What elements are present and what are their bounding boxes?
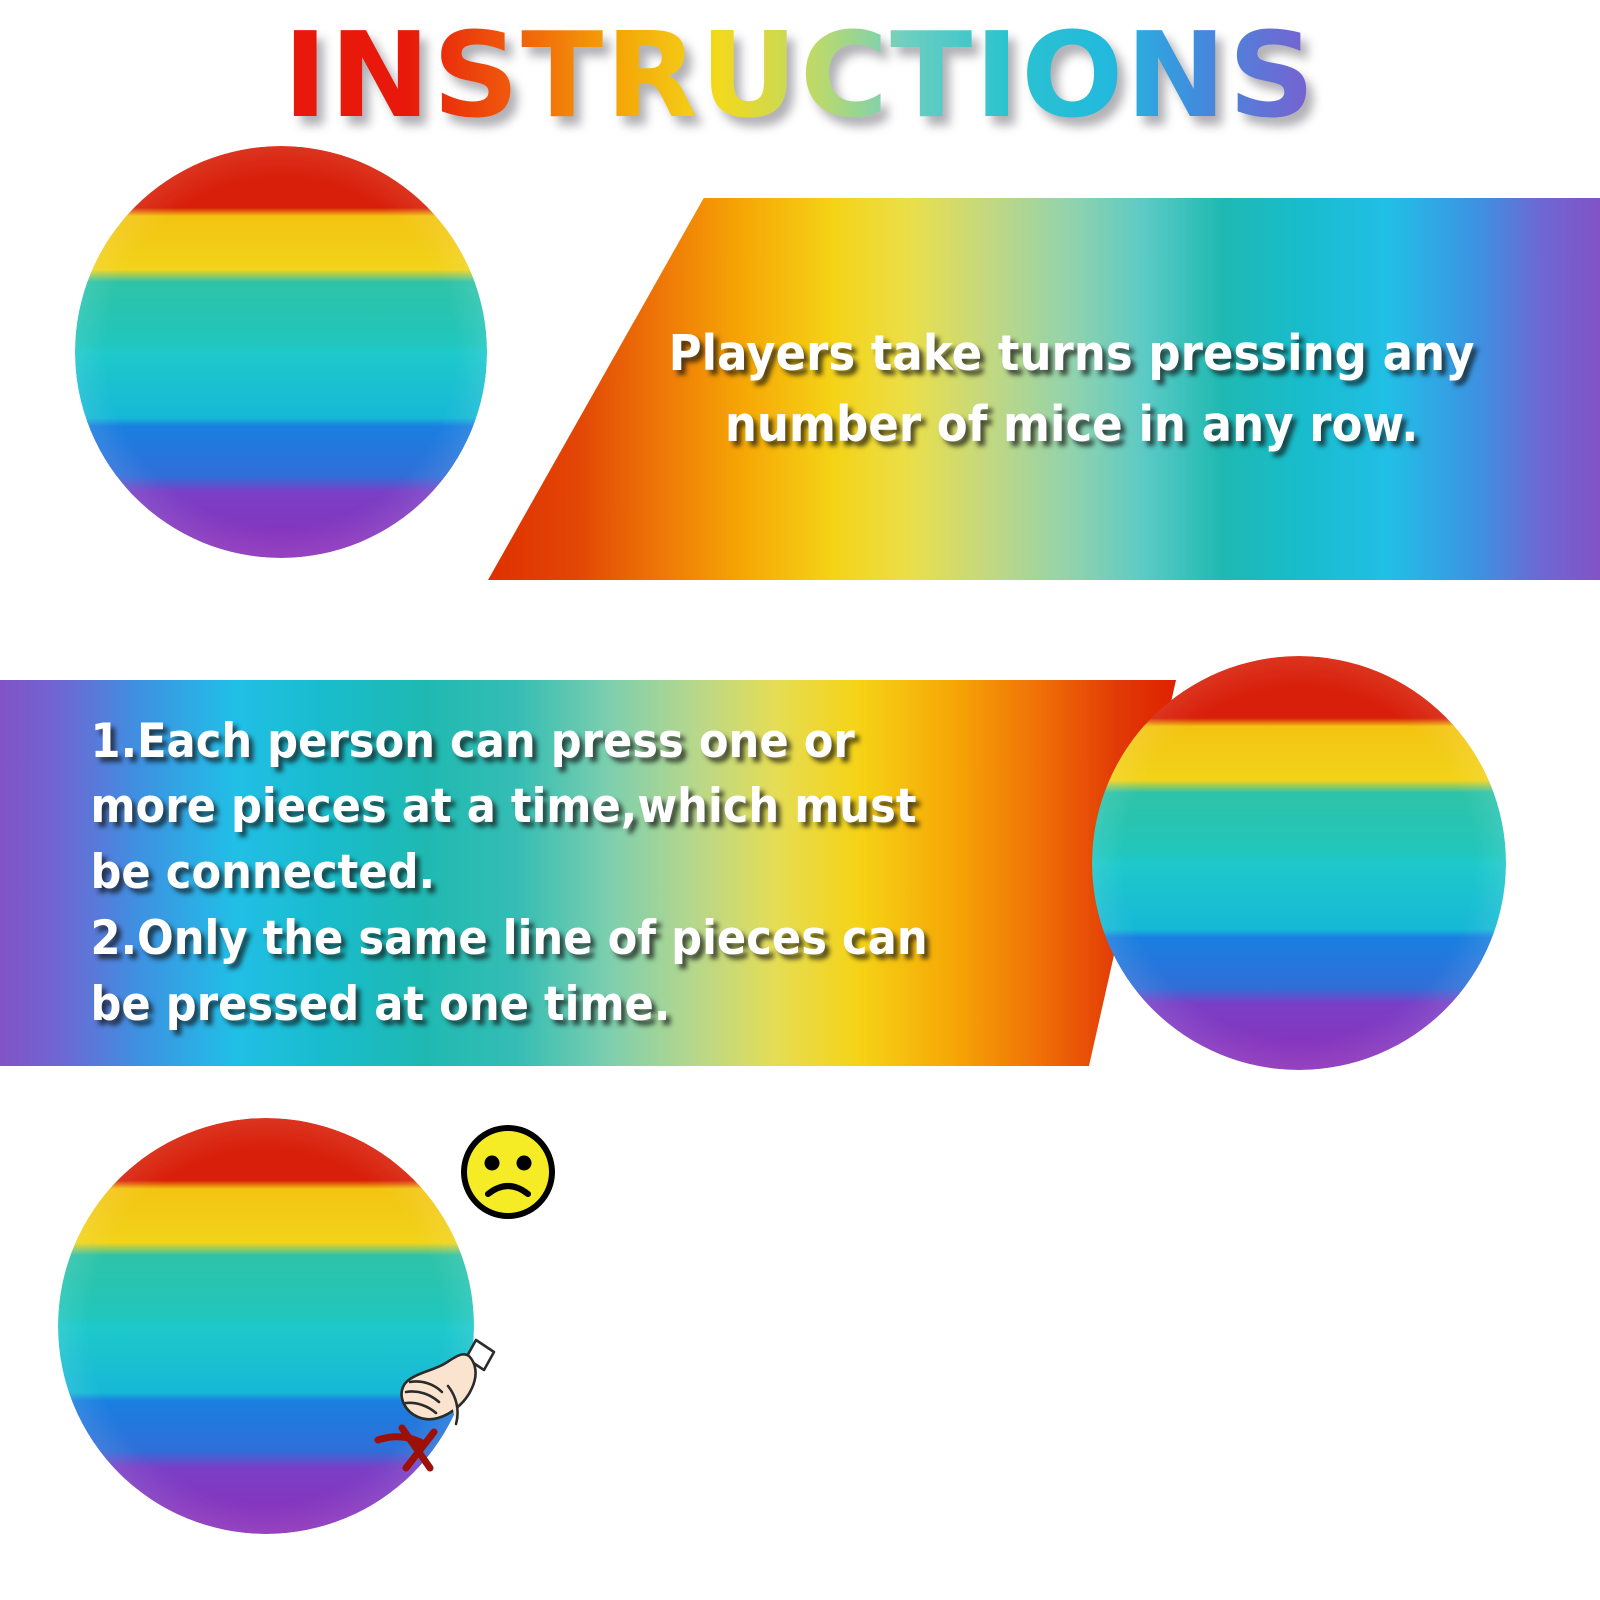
instruction-line: 1.Each person can press one or bbox=[90, 709, 927, 775]
instruction-line: 2.Only the same line of pieces can bbox=[90, 906, 927, 972]
sad-face-icon bbox=[458, 1122, 558, 1222]
pointing-hand-icon bbox=[390, 1330, 500, 1450]
instruction-text-1: Players take turns pressing anynumber of… bbox=[558, 318, 1530, 460]
instruction-text-2: 1.Each person can press one ormore piece… bbox=[46, 709, 1111, 1038]
popit-edge-highlight bbox=[1092, 656, 1506, 1070]
popit-board-2[interactable] bbox=[1092, 656, 1506, 1070]
page-title: INSTRUCTIONS bbox=[283, 16, 1317, 134]
instruction-line: more pieces at a time,which must bbox=[90, 774, 927, 840]
popit-edge-highlight bbox=[75, 146, 487, 558]
instruction-line: number of mice in any row. bbox=[669, 389, 1475, 460]
popit-board-1[interactable] bbox=[75, 146, 487, 558]
selected-row-highlight bbox=[1092, 656, 1104, 668]
instruction-line: Players take turns pressing any bbox=[669, 318, 1475, 389]
instruction-banner-1: Players take turns pressing anynumber of… bbox=[488, 198, 1600, 580]
page-header: INSTRUCTIONS bbox=[0, 0, 1600, 150]
instruction-banner-2: 1.Each person can press one ormore piece… bbox=[0, 680, 1176, 1066]
instruction-line: be pressed at one time. bbox=[90, 972, 927, 1038]
instruction-line: be connected. bbox=[90, 840, 927, 906]
